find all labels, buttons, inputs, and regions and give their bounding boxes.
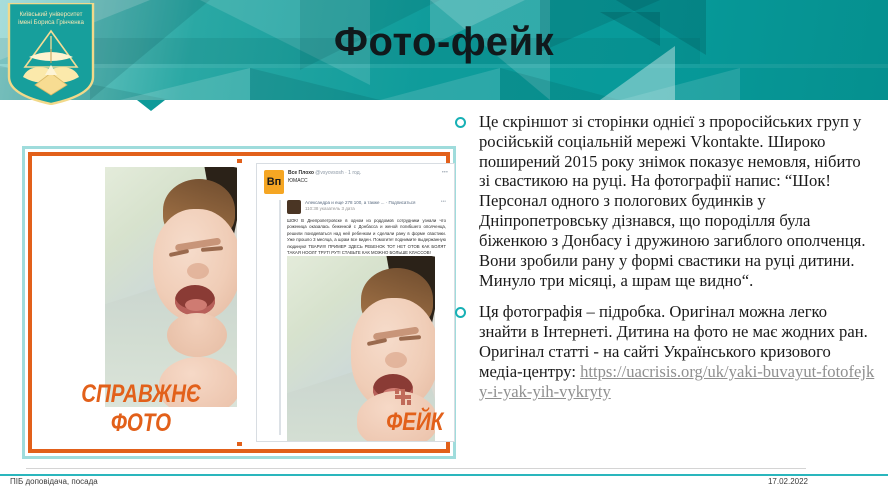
vk-post-text: ШОК! В Днепропетровске в одном из роддом… xyxy=(287,218,446,257)
university-logo: Київський університет імені Бориса Грінч… xyxy=(7,3,95,105)
vk-group-name-text: Все Плохо xyxy=(288,170,314,176)
fake-photo-caption: ФЕЙК xyxy=(387,408,444,437)
vk-group-name: Все Плохо @vsyovsosh · 1 год. xyxy=(288,170,361,176)
figure-inner-border: СПРАВЖНЄ ФОТО Вп Все Плохо @vsyovsosh · … xyxy=(28,152,450,453)
vk-repost-block: Александра и еще 278 100, а также ... · … xyxy=(279,200,448,435)
svg-text:імені Бориса Грінченка: імені Бориса Грінченка xyxy=(18,19,84,26)
vk-repost-avatar xyxy=(287,200,301,214)
vk-more-icon: ••• xyxy=(442,170,448,176)
swastika-mark-icon xyxy=(395,389,411,405)
real-photo-caption: СПРАВЖНЄ ФОТО xyxy=(57,380,224,438)
real-photo-pane: СПРАВЖНЄ ФОТО xyxy=(39,163,243,442)
header-notch xyxy=(137,100,165,111)
shield-icon: Київський університет імені Бориса Грінч… xyxy=(7,3,95,105)
vk-post-header: Вп Все Плохо @vsyovsosh · 1 год. ЮМАСС •… xyxy=(264,170,448,196)
vk-repost-more-icon: ••• xyxy=(441,200,446,205)
bullet-1-text: Це скріншот зі сторінки однієї з проросі… xyxy=(479,112,875,290)
body-content: Це скріншот зі сторінки однієї з проросі… xyxy=(455,112,875,414)
vk-repost-author: Александра и еще 278 100, а также ... · … xyxy=(305,200,415,205)
real-baby-photo xyxy=(105,167,237,407)
footer-hairline xyxy=(26,468,806,469)
fake-photo-pane: Вп Все Плохо @vsyovsosh · 1 год. ЮМАСС •… xyxy=(256,163,455,442)
footer-presenter: ПІБ доповідача, посада xyxy=(10,477,98,486)
footer-rule xyxy=(0,474,888,476)
slide: Фото-фейк Київський університет імені Бо… xyxy=(0,0,888,499)
bullet-circle-icon xyxy=(455,307,466,318)
vk-post-screenshot: Вп Все Плохо @vsyovsosh · 1 год. ЮМАСС •… xyxy=(257,164,454,441)
footer-date: 17.02.2022 xyxy=(768,477,808,486)
bullet-circle-icon xyxy=(455,117,466,128)
vk-post-meta: @vsyovsosh · 1 год. xyxy=(315,170,361,176)
bullet-item-2: Ця фотографія – підробка. Оригінал можна… xyxy=(455,302,875,401)
comparison-figure: СПРАВЖНЄ ФОТО Вп Все Плохо @vsyovsosh · … xyxy=(22,146,456,459)
bullet-2-text: Ця фотографія – підробка. Оригінал можна… xyxy=(479,302,875,401)
page-title: Фото-фейк xyxy=(0,20,888,65)
vk-group-subtitle: ЮМАСС xyxy=(288,178,308,184)
bullet-item-1: Це скріншот зі сторінки однієї з проросі… xyxy=(455,112,875,290)
vk-repost-date: 110:38 указатель 3 дата xyxy=(305,206,355,211)
svg-text:Київський університет: Київський університет xyxy=(19,11,82,18)
vk-group-avatar: Вп xyxy=(264,170,284,194)
